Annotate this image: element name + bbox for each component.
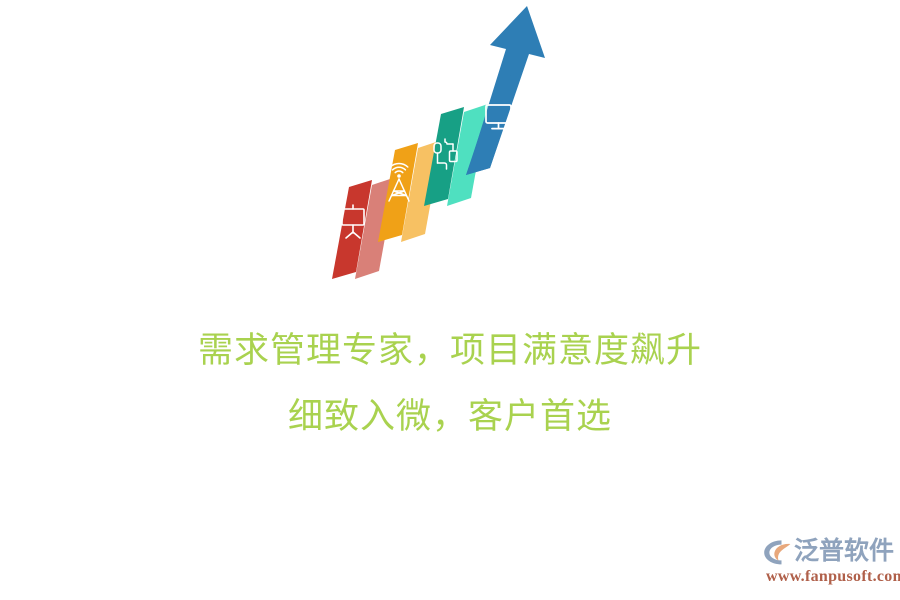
brand-url: www.fanpusoft.com [766,567,900,587]
brand-logo[interactable]: 泛普软件 www.fanpusoft.com [762,536,894,588]
ascending-arrow-infographic [320,0,580,290]
brand-name: 泛普软件 [794,537,894,567]
step-blue-arrow [466,6,545,175]
fanpu-logo-mark-icon [762,538,792,566]
headline-line-2: 细致入微，客户首选 [0,384,900,450]
logo-top-row: 泛普软件 [762,536,894,568]
poster-canvas: 需求管理专家，项目满意度飙升 细致入微，客户首选 泛普软件 www.fanpus… [0,0,900,600]
headline-line-1: 需求管理专家，项目满意度飙升 [0,318,900,384]
headline-block: 需求管理专家，项目满意度飙升 细致入微，客户首选 [0,318,900,450]
